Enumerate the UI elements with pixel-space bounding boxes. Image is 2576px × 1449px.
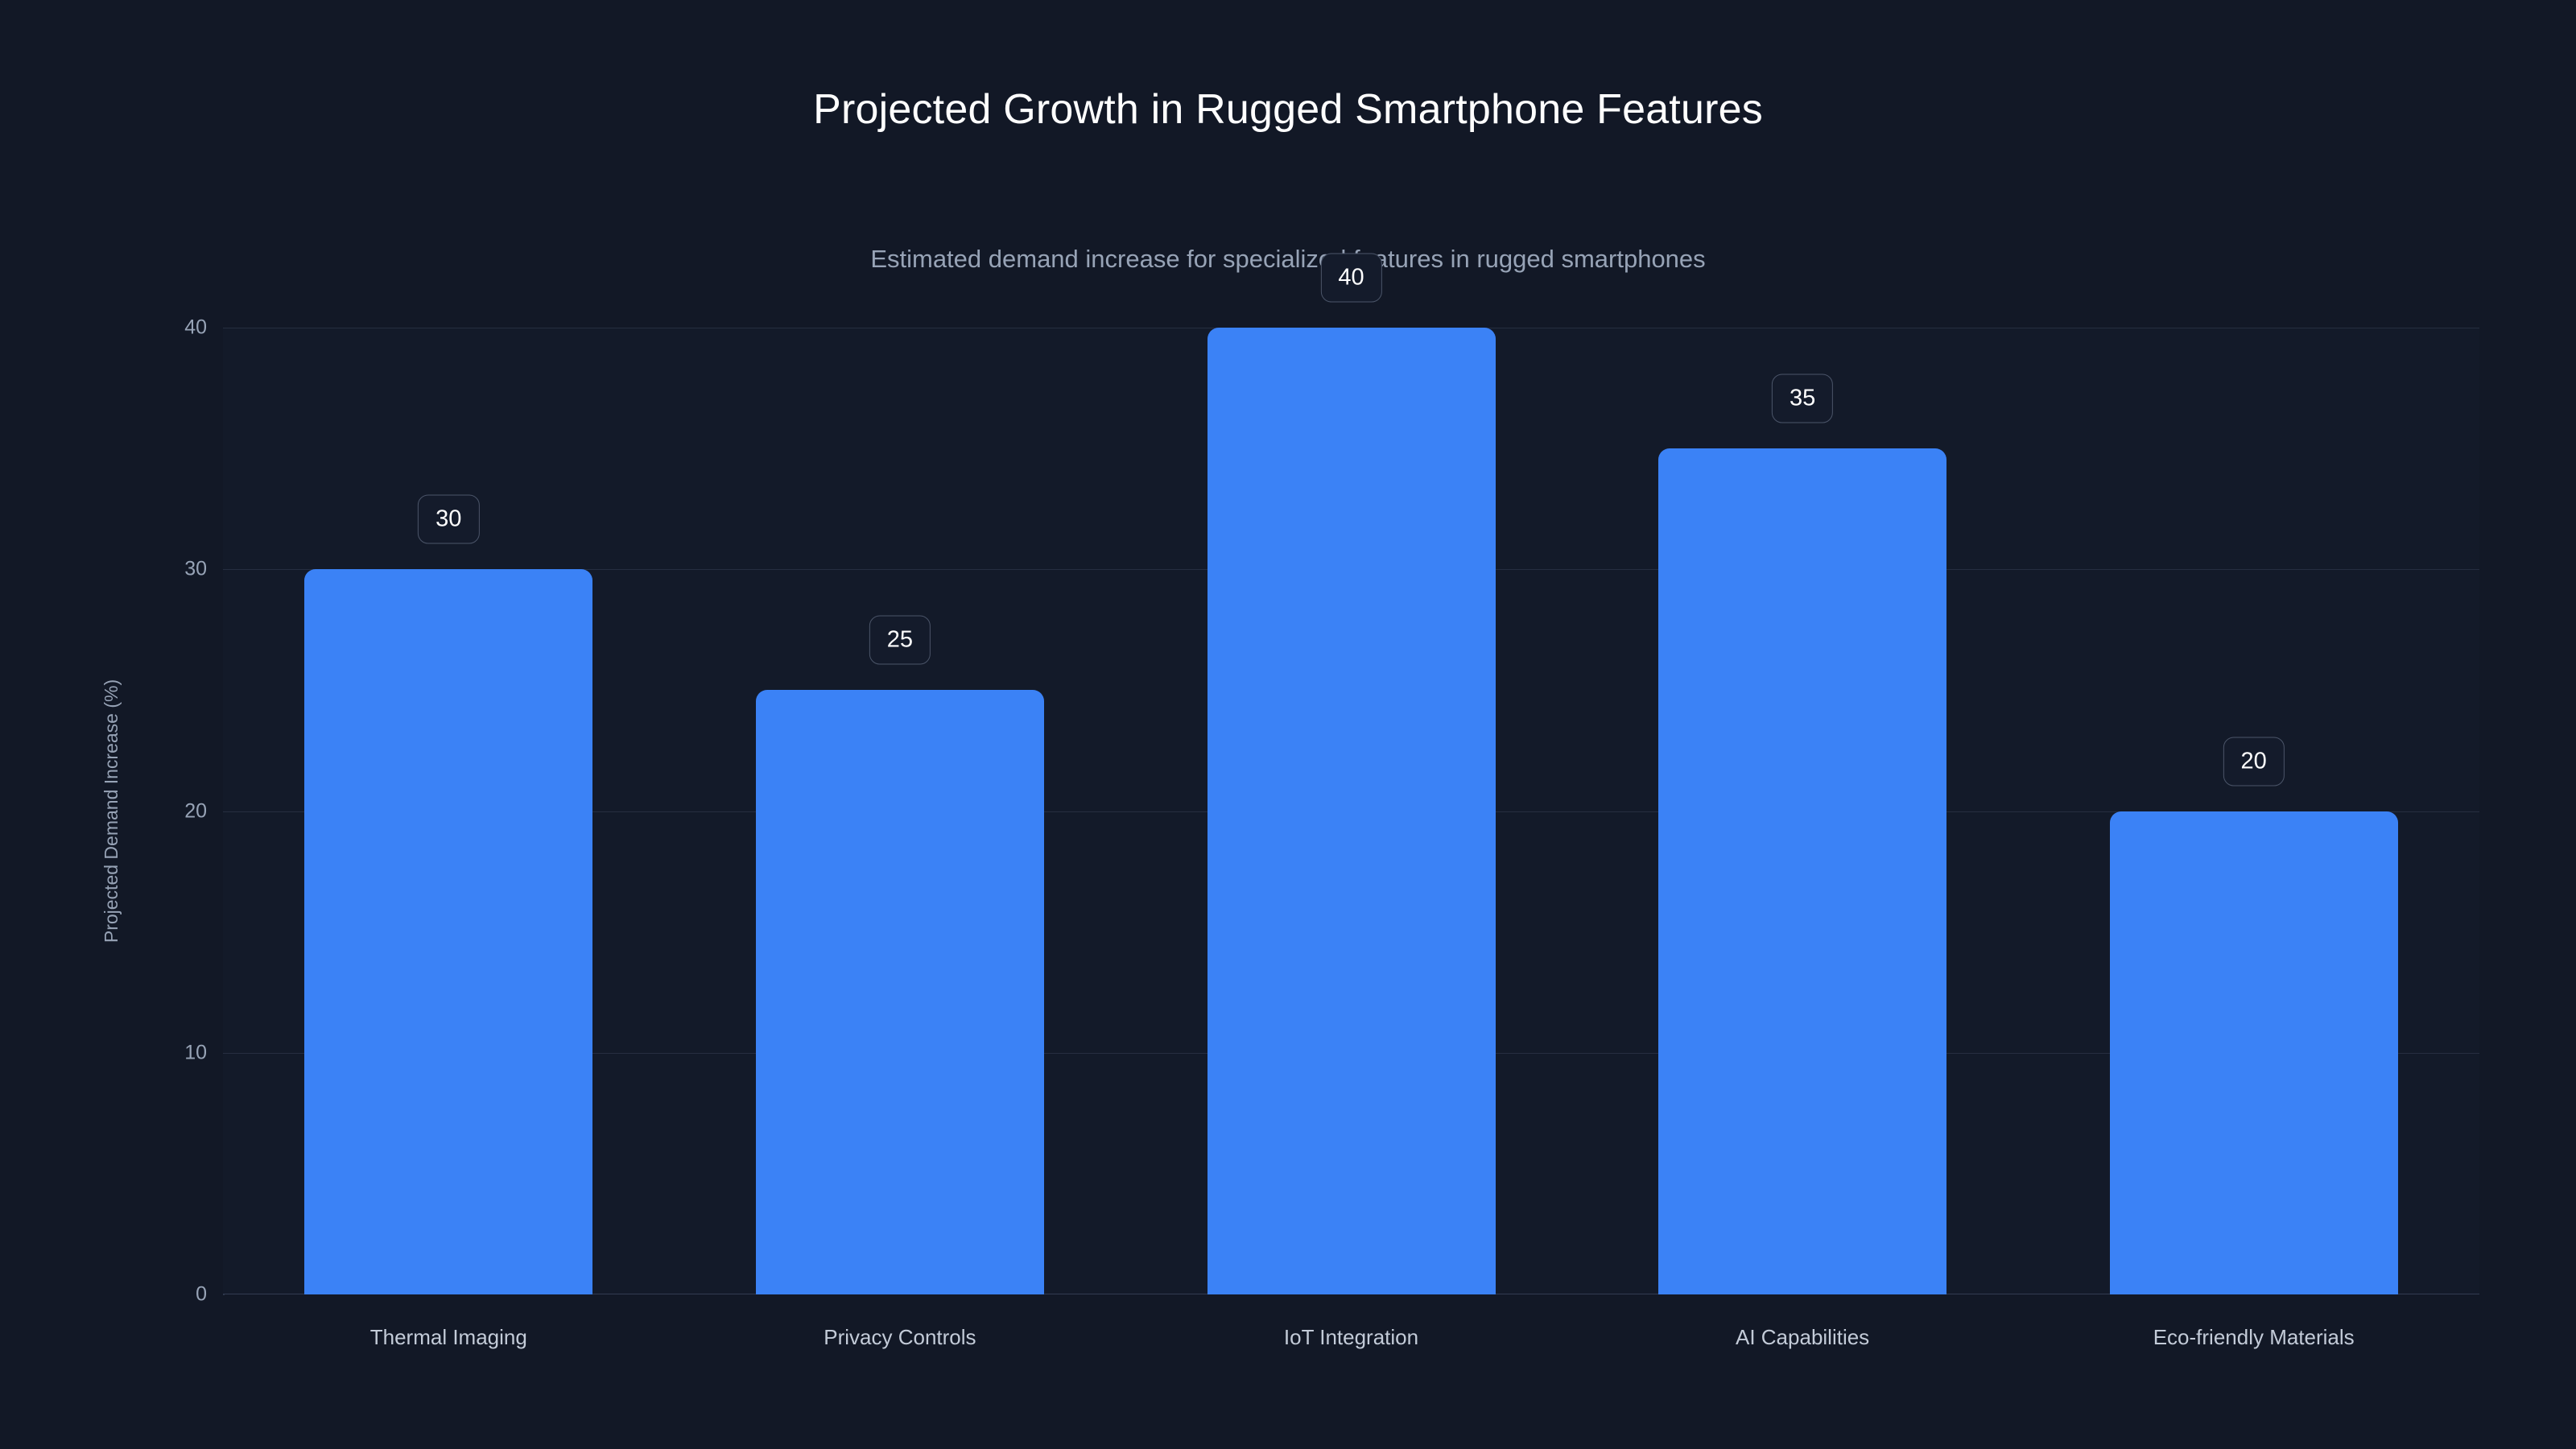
chart-title: Projected Growth in Rugged Smartphone Fe… bbox=[0, 87, 2576, 133]
y-tick-label-0: 0 bbox=[110, 1285, 207, 1305]
x-tick-label: Thermal Imaging bbox=[370, 1327, 527, 1348]
y-tick-label-10: 10 bbox=[110, 1042, 207, 1063]
bar-value-label: 25 bbox=[869, 616, 931, 665]
chart-subtitle: Estimated demand increase for specialize… bbox=[0, 246, 2576, 273]
bar-value-label: 20 bbox=[2223, 737, 2285, 786]
bar[interactable] bbox=[756, 690, 1044, 1294]
plot-area bbox=[223, 328, 2479, 1294]
chart-figure: Projected Growth in Rugged Smartphone Fe… bbox=[0, 0, 2576, 1449]
bar-value-label: 35 bbox=[1772, 374, 1833, 423]
x-tick-label: Eco-friendly Materials bbox=[2153, 1327, 2355, 1348]
bar-value-label: 30 bbox=[418, 495, 479, 544]
x-tick-label: Privacy Controls bbox=[824, 1327, 976, 1348]
y-tick-label-40: 40 bbox=[110, 318, 207, 338]
x-tick-label: AI Capabilities bbox=[1736, 1327, 1869, 1348]
y-tick-label-20: 20 bbox=[110, 801, 207, 821]
x-tick-label: IoT Integration bbox=[1284, 1327, 1418, 1348]
y-tick-label-30: 30 bbox=[110, 559, 207, 580]
bar-value-label: 40 bbox=[1320, 254, 1381, 303]
bar[interactable] bbox=[1658, 448, 1946, 1294]
bar[interactable] bbox=[1207, 328, 1496, 1294]
bar[interactable] bbox=[2110, 811, 2398, 1295]
bar[interactable] bbox=[304, 569, 592, 1294]
